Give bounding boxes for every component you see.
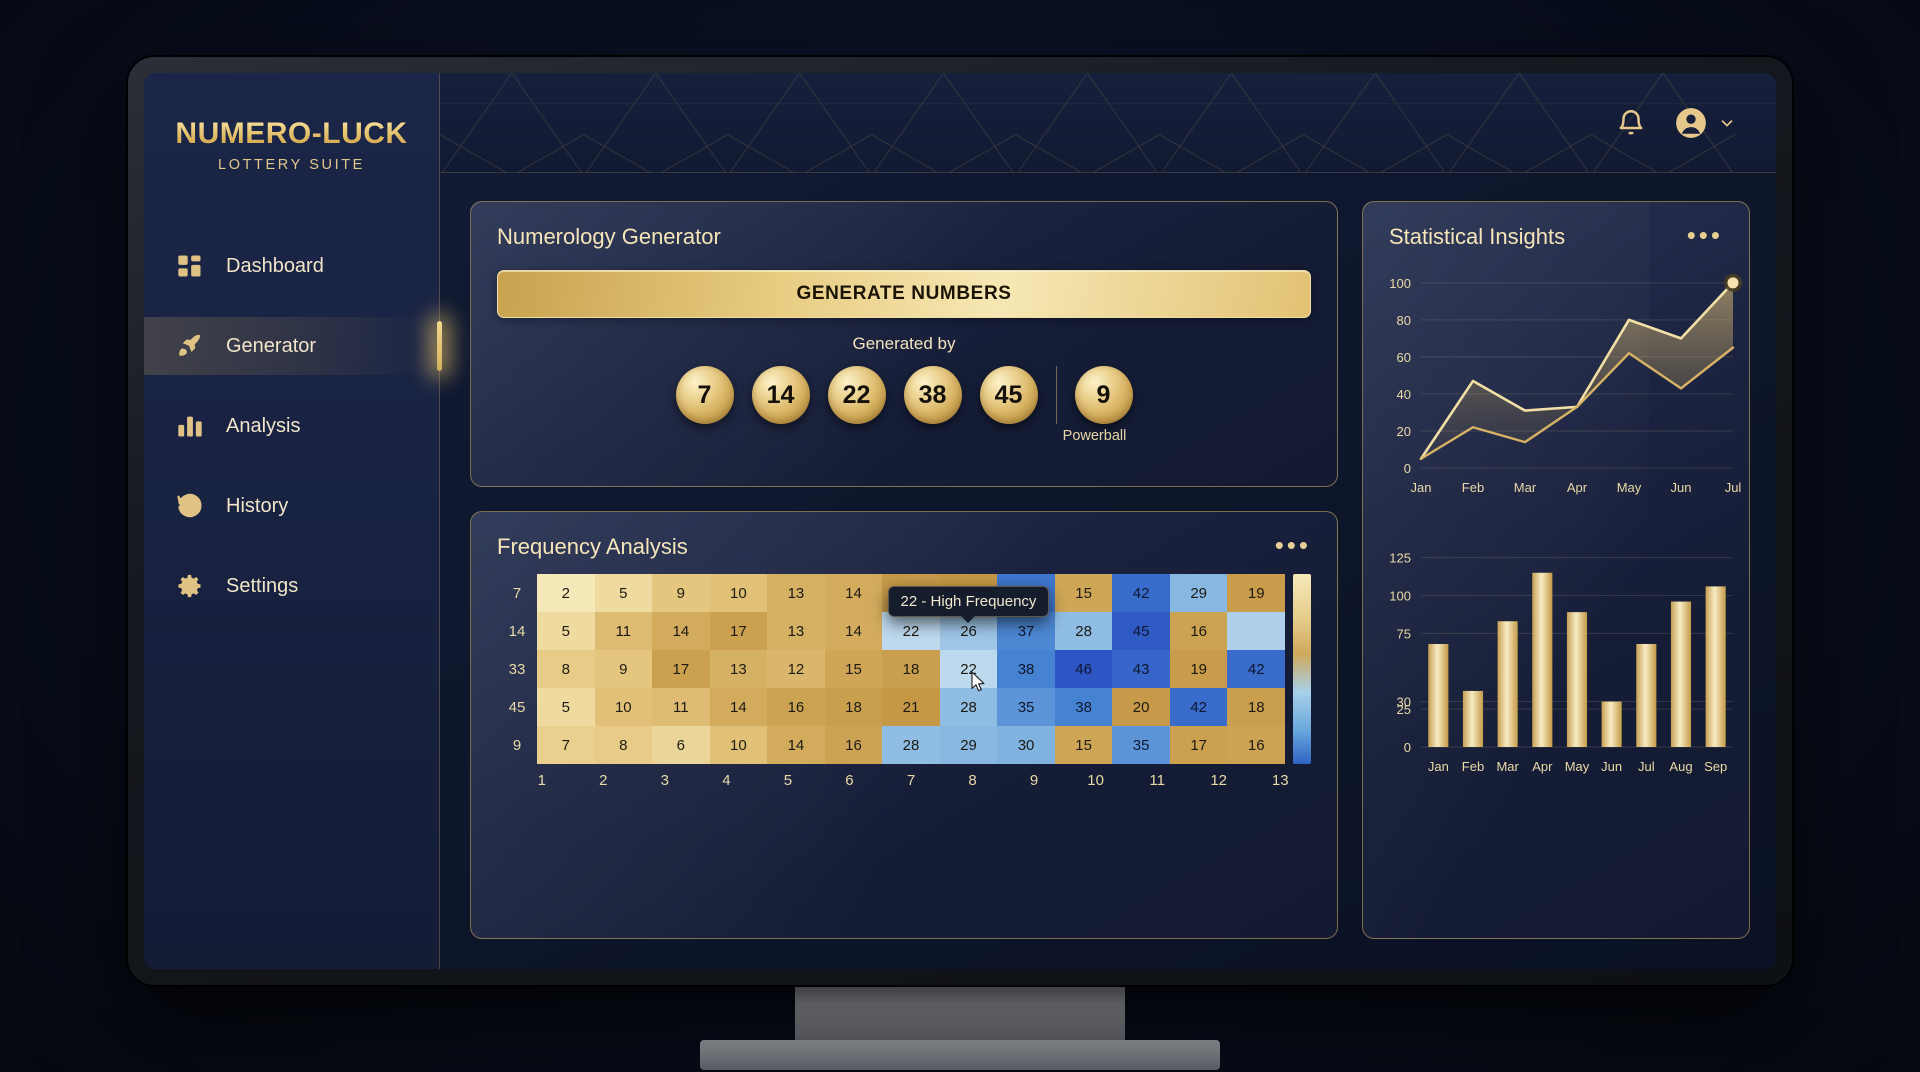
svg-text:0: 0: [1404, 461, 1411, 476]
svg-text:Jul: Jul: [1638, 759, 1655, 774]
svg-text:40: 40: [1397, 387, 1411, 402]
mouse-cursor-icon: [971, 671, 987, 693]
sidebar-item-label: History: [226, 495, 288, 518]
more-options-icon[interactable]: •••: [1661, 202, 1749, 248]
svg-text:Mar: Mar: [1514, 480, 1537, 495]
topbar: [440, 73, 1776, 173]
brand-name: NUMERO-LUCK: [144, 117, 439, 151]
numerology-generator-card: Numerology Generator GENERATE NUMBERS Ge…: [470, 201, 1338, 487]
user-avatar-icon[interactable]: [1674, 106, 1708, 140]
heatmap-row-label: 14: [497, 612, 537, 650]
analysis-bars-icon: [176, 412, 204, 440]
heatmap-col-labels: 12345678910111213: [511, 764, 1311, 789]
heatmap-col-label: 6: [819, 772, 881, 789]
heatmap-row-label: 33: [497, 650, 537, 688]
heatmap-cell[interactable]: 38: [997, 650, 1055, 688]
heatmap-cell[interactable]: 37: [997, 612, 1055, 650]
statistics-title: Statistical Insights: [1363, 202, 1591, 250]
heatmap-cell[interactable]: 14: [825, 574, 883, 612]
heatmap-row-label: 7: [497, 574, 537, 612]
bar-chart: 0253075100125JanFebMarAprMayJunJulAugSep: [1363, 525, 1749, 830]
chevron-down-icon[interactable]: [1718, 114, 1736, 132]
account-menu[interactable]: [1674, 106, 1736, 140]
heatmap-cell[interactable]: 28: [882, 726, 940, 764]
content-area: Numerology Generator GENERATE NUMBERS Ge…: [440, 173, 1776, 969]
heatmap-cell[interactable]: 35: [997, 688, 1055, 726]
svg-text:100: 100: [1389, 276, 1411, 291]
heatmap-col-label: 2: [573, 772, 635, 789]
heatmap-cell[interactable]: 43: [1112, 650, 1170, 688]
svg-text:Jul: Jul: [1725, 480, 1742, 495]
sidebar-item-label: Analysis: [226, 415, 300, 438]
heatmap-cell[interactable]: 19: [1227, 574, 1285, 612]
heatmap-col-label: 5: [757, 772, 819, 789]
heatmap-cell[interactable]: 11: [595, 612, 653, 650]
heatmap-cell[interactable]: 14: [710, 688, 768, 726]
heatmap-col-label: 10: [1065, 772, 1127, 789]
sidebar-item-label: Settings: [226, 575, 298, 598]
heatmap-cell[interactable]: 42: [1112, 574, 1170, 612]
svg-text:Apr: Apr: [1567, 480, 1588, 495]
heatmap-cell[interactable]: 18: [882, 650, 940, 688]
heatmap-cell[interactable]: 18: [1227, 688, 1285, 726]
heatmap-row-label: 9: [497, 726, 537, 764]
heatmap-cell[interactable]: 22: [940, 650, 998, 688]
generated-by-label: Generated by: [471, 334, 1337, 354]
sidebar-item-label: Generator: [226, 335, 316, 358]
lottery-ball[interactable]: 22: [828, 366, 886, 424]
heatmap-cell[interactable]: 11: [652, 688, 710, 726]
heatmap-cell[interactable]: 10: [595, 688, 653, 726]
heatmap-cell[interactable]: [1227, 612, 1285, 650]
lottery-ball[interactable]: 7: [676, 366, 734, 424]
svg-text:Feb: Feb: [1462, 480, 1484, 495]
heatmap-cell[interactable]: 5: [537, 612, 595, 650]
heatmap-col-label: 9: [1003, 772, 1065, 789]
statistical-insights-card: Statistical Insights ••• 020406080100Jan…: [1362, 201, 1750, 939]
main-area: Numerology Generator GENERATE NUMBERS Ge…: [440, 73, 1776, 969]
svg-text:80: 80: [1397, 313, 1411, 328]
right-column: Statistical Insights ••• 020406080100Jan…: [1362, 201, 1750, 939]
heatmap-cell[interactable]: 19: [1170, 650, 1228, 688]
heatmap-cell[interactable]: 20: [1112, 688, 1170, 726]
line-chart: 020406080100JanFebMarAprMayJunJul: [1363, 250, 1749, 525]
svg-text:Apr: Apr: [1532, 759, 1553, 774]
lottery-ball[interactable]: 45: [980, 366, 1038, 424]
svg-text:Jun: Jun: [1671, 480, 1692, 495]
generator-title: Numerology Generator: [471, 202, 1337, 250]
gear-icon: [176, 572, 204, 600]
heatmap-cell[interactable]: 2: [537, 574, 595, 612]
heatmap-cell[interactable]: 16: [1227, 726, 1285, 764]
heatmap-cell[interactable]: 13: [767, 574, 825, 612]
heatmap-col-label: 1: [511, 772, 573, 789]
heatmap-cell[interactable]: 5: [537, 688, 595, 726]
svg-text:60: 60: [1397, 350, 1411, 365]
svg-text:Feb: Feb: [1462, 759, 1484, 774]
heatmap-cell[interactable]: 29: [940, 726, 998, 764]
heatmap-cell[interactable]: 9: [595, 650, 653, 688]
heatmap-cell[interactable]: 15: [1055, 574, 1113, 612]
sidebar-item-generator[interactable]: Generator: [144, 317, 439, 375]
generate-numbers-button[interactable]: GENERATE NUMBERS: [497, 270, 1311, 318]
sidebar-item-label: Dashboard: [226, 255, 324, 278]
svg-text:Jun: Jun: [1601, 759, 1622, 774]
heatmap-cell[interactable]: 16: [1170, 612, 1228, 650]
more-options-icon[interactable]: •••: [1249, 512, 1337, 558]
heatmap-cell[interactable]: 14: [825, 612, 883, 650]
heatmap-cell[interactable]: 5: [595, 574, 653, 612]
sidebar-item-settings[interactable]: Settings: [144, 557, 439, 615]
heatmap-cell[interactable]: 30: [997, 726, 1055, 764]
heatmap-col-label: 3: [634, 772, 696, 789]
heatmap-col-label: 7: [880, 772, 942, 789]
heatmap-col-label: 12: [1188, 772, 1250, 789]
svg-text:75: 75: [1397, 626, 1411, 641]
heatmap-cell[interactable]: 17: [1170, 726, 1228, 764]
heatmap-cell[interactable]: 10: [710, 726, 768, 764]
heatmap-col-label: 4: [696, 772, 758, 789]
heatmap-cell[interactable]: 15: [1055, 726, 1113, 764]
heatmap-cell[interactable]: 10: [710, 574, 768, 612]
powerball-group: 9 Powerball: [1056, 366, 1133, 424]
svg-text:30: 30: [1397, 695, 1411, 710]
sidebar-item-dashboard[interactable]: Dashboard: [144, 237, 439, 295]
heatmap-cell[interactable]: 8: [537, 650, 595, 688]
generated-numbers-row: 7 14 22 38 45 9 Powerball: [471, 366, 1337, 424]
heatmap-cell[interactable]: 12: [767, 650, 825, 688]
heatmap-col-label: 11: [1126, 772, 1188, 789]
heatmap-cell[interactable]: 42: [1227, 650, 1285, 688]
dashboard-icon: [176, 252, 204, 280]
monitor-bezel: NUMERO-LUCK LOTTERY SUITE Dashboard Gene…: [128, 57, 1792, 985]
left-column: Numerology Generator GENERATE NUMBERS Ge…: [470, 201, 1338, 939]
svg-text:125: 125: [1389, 551, 1411, 566]
heatmap-cell[interactable]: 13: [710, 650, 768, 688]
sidebar-item-analysis[interactable]: Analysis: [144, 397, 439, 455]
heatmap-row-label: 45: [497, 688, 537, 726]
svg-text:Jan: Jan: [1428, 759, 1449, 774]
brand-block: NUMERO-LUCK LOTTERY SUITE: [144, 113, 439, 237]
heatmap-col-label: 8: [942, 772, 1004, 789]
screenshot-stage: NUMERO-LUCK LOTTERY SUITE Dashboard Gene…: [0, 0, 1920, 1072]
svg-text:May: May: [1565, 759, 1590, 774]
heatmap-cell[interactable]: 28: [1055, 612, 1113, 650]
heatmap-cell[interactable]: 9: [652, 574, 710, 612]
brand-subtitle: LOTTERY SUITE: [144, 157, 439, 173]
generator-icon: [176, 332, 204, 360]
heatmap-cell[interactable]: 45: [1112, 612, 1170, 650]
bell-icon[interactable]: [1616, 108, 1646, 138]
heatmap-cell[interactable]: 14: [767, 726, 825, 764]
heatmap-cell[interactable]: 38: [1055, 688, 1113, 726]
screen: NUMERO-LUCK LOTTERY SUITE Dashboard Gene…: [144, 73, 1776, 969]
heatmap-cell[interactable]: 16: [767, 688, 825, 726]
art-deco-pattern: [440, 73, 1776, 173]
heatmap-cell[interactable]: 7: [537, 726, 595, 764]
svg-text:Sep: Sep: [1704, 759, 1727, 774]
heatmap-cell[interactable]: 17: [710, 612, 768, 650]
heatmap-cell[interactable]: 17: [652, 650, 710, 688]
svg-text:100: 100: [1389, 588, 1411, 603]
heatmap-cell[interactable]: 46: [1055, 650, 1113, 688]
heatmap-cell[interactable]: 29: [1170, 574, 1228, 612]
svg-text:0: 0: [1404, 740, 1411, 755]
svg-text:Mar: Mar: [1496, 759, 1519, 774]
powerball-label: Powerball: [1057, 428, 1133, 444]
heatmap-cell[interactable]: 15: [825, 650, 883, 688]
lottery-ball[interactable]: 14: [752, 366, 810, 424]
heatmap-row-labels: 71433459: [497, 574, 537, 764]
heatmap-cell[interactable]: 13: [767, 612, 825, 650]
heatmap-cell[interactable]: 35: [1112, 726, 1170, 764]
heatmap-cell[interactable]: 16: [825, 726, 883, 764]
monitor-stand-neck: [795, 978, 1125, 1040]
svg-text:Jan: Jan: [1411, 480, 1432, 495]
heatmap-cell[interactable]: 18: [825, 688, 883, 726]
frequency-title: Frequency Analysis: [471, 512, 714, 560]
heatmap-cell[interactable]: 22: [882, 612, 940, 650]
heatmap-tooltip: 22 - High Frequency: [888, 586, 1050, 617]
frequency-analysis-card: Frequency Analysis ••• 71433459 25910131…: [470, 511, 1338, 939]
monitor-stand-base: [700, 1040, 1220, 1070]
sidebar-item-history[interactable]: History: [144, 477, 439, 535]
svg-text:Aug: Aug: [1669, 759, 1692, 774]
history-clock-icon: [176, 492, 204, 520]
svg-text:May: May: [1617, 480, 1642, 495]
heatmap-cell[interactable]: 21: [882, 688, 940, 726]
heatmap-cell[interactable]: 28: [940, 688, 998, 726]
powerball-ball[interactable]: 9: [1075, 366, 1133, 424]
svg-text:20: 20: [1397, 424, 1411, 439]
lottery-ball[interactable]: 38: [904, 366, 962, 424]
heatmap-cell[interactable]: 42: [1170, 688, 1228, 726]
heatmap-wrapper: 71433459 2591013142021401542291951114171…: [471, 560, 1337, 764]
heatmap-colorbar: [1293, 574, 1311, 764]
heatmap-cell[interactable]: 8: [595, 726, 653, 764]
heatmap-cell[interactable]: 14: [652, 612, 710, 650]
sidebar: NUMERO-LUCK LOTTERY SUITE Dashboard Gene…: [144, 73, 440, 969]
heatmap-cell[interactable]: 6: [652, 726, 710, 764]
heatmap-col-label: 13: [1249, 772, 1311, 789]
